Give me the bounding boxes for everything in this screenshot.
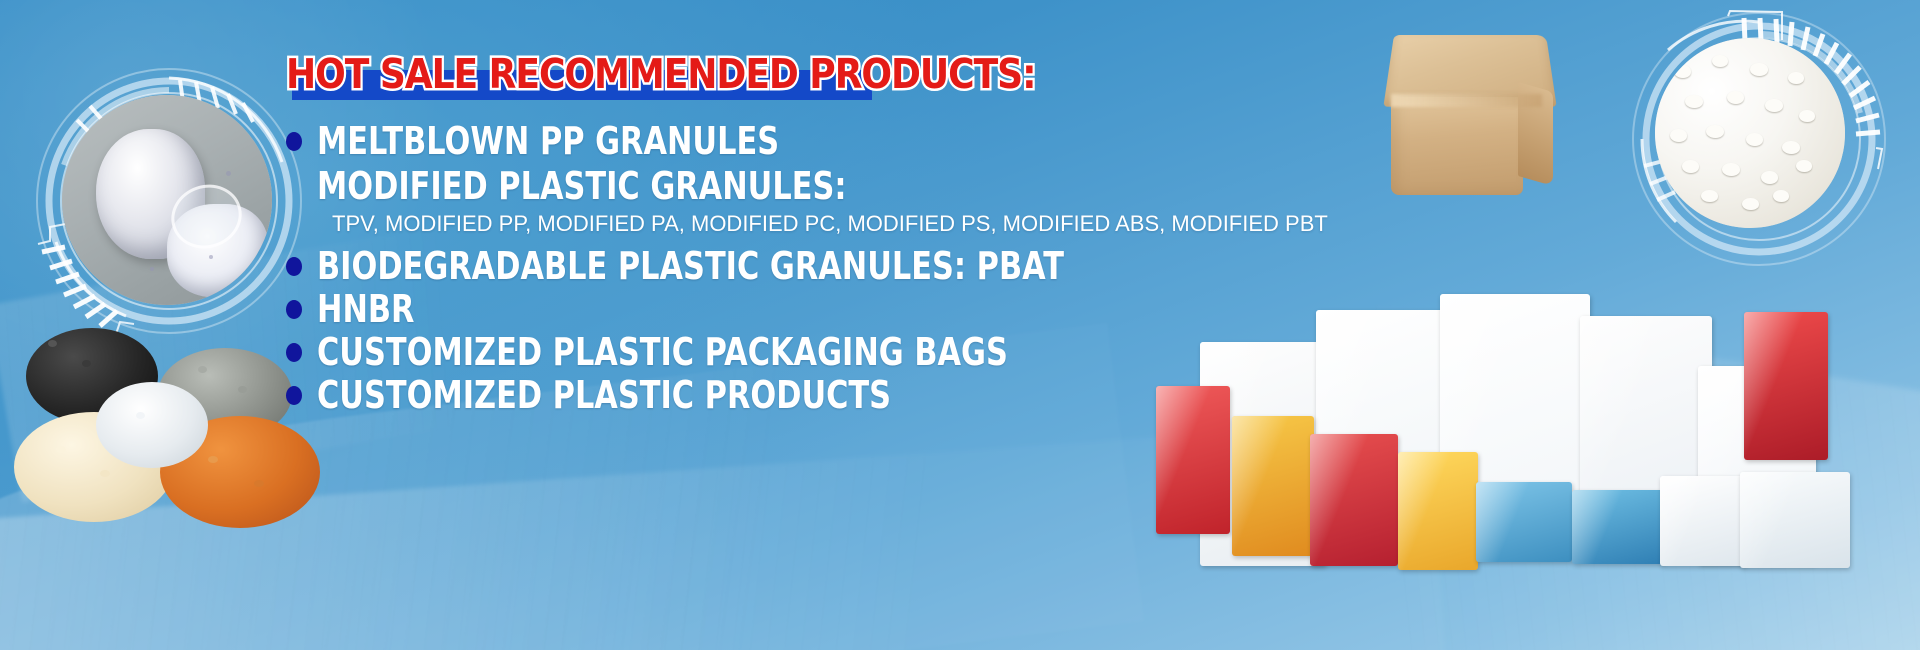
list-item[interactable]: MODIFIED PLASTIC GRANULES: <box>286 165 1386 208</box>
list-item-sublabel: TPV, MODIFIED PP, MODIFIED PA, MODIFIED … <box>332 208 1386 239</box>
bullet-icon <box>286 132 302 151</box>
bullet-icon-placeholder <box>286 177 302 196</box>
list-item-label: BIODEGRADABLE PLASTIC GRANULES: PBAT <box>317 245 1064 288</box>
bullet-icon <box>286 386 302 405</box>
page-title: HOT SALE RECOMMENDED PRODUCTS: <box>286 46 1035 102</box>
list-item[interactable]: BIODEGRADABLE PLASTIC GRANULES: PBAT <box>286 245 1386 288</box>
bullet-icon <box>286 343 302 362</box>
list-item[interactable]: MELTBLOWN PP GRANULES <box>286 120 1386 163</box>
list-item-label: CUSTOMIZED PLASTIC PACKAGING BAGS <box>317 331 1008 374</box>
headline-block: HOT SALE RECOMMENDED PRODUCTS: <box>286 46 1386 108</box>
product-list: MELTBLOWN PP GRANULES MODIFIED PLASTIC G… <box>286 120 1386 417</box>
promo-banner: HOT SALE RECOMMENDED PRODUCTS: MELTBLOWN… <box>0 0 1920 650</box>
banner-text-content: HOT SALE RECOMMENDED PRODUCTS: MELTBLOWN… <box>286 46 1386 417</box>
list-item-label: CUSTOMIZED PLASTIC PRODUCTS <box>317 374 891 417</box>
bullet-icon <box>286 257 302 276</box>
pbat-white-granules-photo <box>1655 38 1845 228</box>
list-item[interactable]: CUSTOMIZED PLASTIC PRODUCTS <box>286 374 1386 417</box>
list-item-label: MELTBLOWN PP GRANULES <box>317 120 779 163</box>
list-item-label: HNBR <box>317 288 414 331</box>
hnbr-rubber-block-photo <box>1378 30 1562 198</box>
bullet-icon <box>286 300 302 319</box>
meltblown-pp-granules-photo <box>62 95 272 305</box>
list-item[interactable]: CUSTOMIZED PLASTIC PACKAGING BAGS <box>286 331 1386 374</box>
list-item[interactable]: HNBR <box>286 288 1386 331</box>
list-item-label: MODIFIED PLASTIC GRANULES: <box>317 165 847 208</box>
